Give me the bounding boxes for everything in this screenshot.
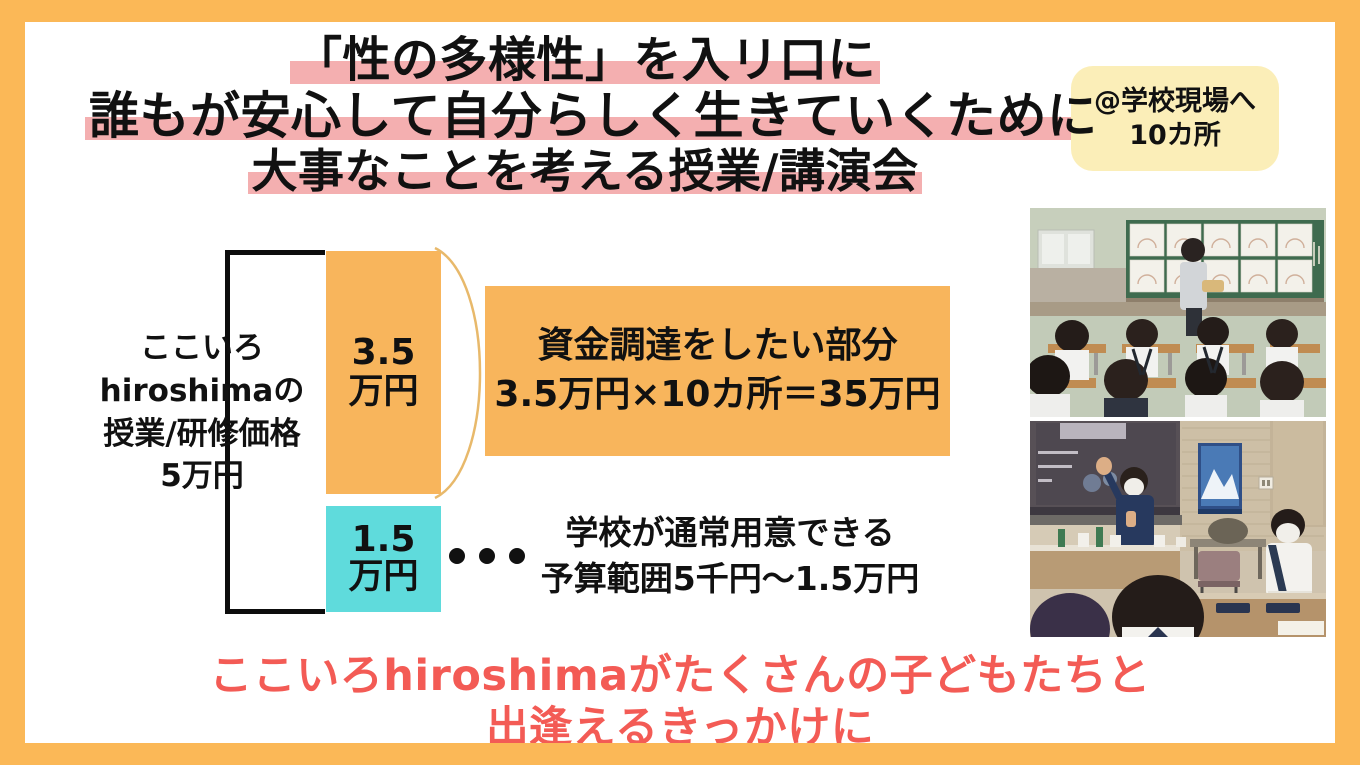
page-title: 「性の多様性」を入リ口に 誰もが安心して自分らしく生きていくために 大事なことを…: [85, 36, 1085, 196]
callout-line-2: 3.5万円×10カ所＝35万円: [494, 372, 940, 419]
bar-cyan-unit: 万円: [348, 559, 418, 597]
badge-line-2: 10カ所: [1129, 120, 1221, 151]
dot-1: [449, 548, 465, 564]
price-label-line-1: ここいろ: [77, 327, 327, 370]
title-line-3: 大事なことを考える授業/講演会: [85, 148, 1085, 196]
status-badge: @学校現場へ 10カ所: [1071, 66, 1279, 171]
dot-2: [479, 548, 495, 564]
price-label-line-2: hiroshimaの: [77, 370, 327, 413]
poster-canvas: 「性の多様性」を入リ口に 誰もが安心して自分らしく生きていくために 大事なことを…: [25, 22, 1335, 743]
price-label-line-4: 5万円: [77, 455, 327, 498]
lecture-hall-photo: [1030, 421, 1326, 637]
budget-note-line-1: 学校が通常用意できる: [495, 510, 965, 556]
bar-orange-amount: 3.5: [352, 334, 416, 372]
bar-cyan-15: 1.5 万円: [326, 506, 441, 612]
bottom-message-line-2: 出逢えるきっかけに: [145, 702, 1215, 743]
budget-note-line-2: 予算範囲5千円〜1.5万円: [495, 556, 965, 602]
bottom-message-line-1: ここいろhiroshimaがたくさんの子どもたちと: [145, 650, 1215, 702]
price-label: ここいろ hiroshimaの 授業/研修価格 5万円: [77, 327, 327, 498]
bottom-message: ここいろhiroshimaがたくさんの子どもたちと 出逢えるきっかけに: [145, 650, 1215, 743]
budget-note: 学校が通常用意できる 予算範囲5千円〜1.5万円: [495, 510, 965, 601]
bar-cyan-amount: 1.5: [352, 521, 416, 559]
lecture-photo-graphic: [1030, 421, 1326, 637]
classroom-photo-graphic: [1030, 208, 1326, 417]
title-line-2: 誰もが安心して自分らしく生きていくために: [85, 90, 1085, 142]
bar-orange-unit: 万円: [348, 374, 418, 412]
poster-root: 「性の多様性」を入リ口に 誰もが安心して自分らしく生きていくために 大事なことを…: [0, 0, 1360, 765]
classroom-lesson-photo: [1030, 208, 1326, 417]
title-line-1: 「性の多様性」を入リ口に: [85, 36, 1085, 86]
callout-line-1: 資金調達をしたい部分: [537, 323, 897, 370]
bar-orange-35: 3.5 万円: [326, 251, 441, 494]
badge-line-1: @学校現場へ: [1094, 86, 1256, 117]
price-label-line-3: 授業/研修価格: [77, 413, 327, 456]
callout-funding: 資金調達をしたい部分 3.5万円×10カ所＝35万円: [485, 286, 950, 456]
